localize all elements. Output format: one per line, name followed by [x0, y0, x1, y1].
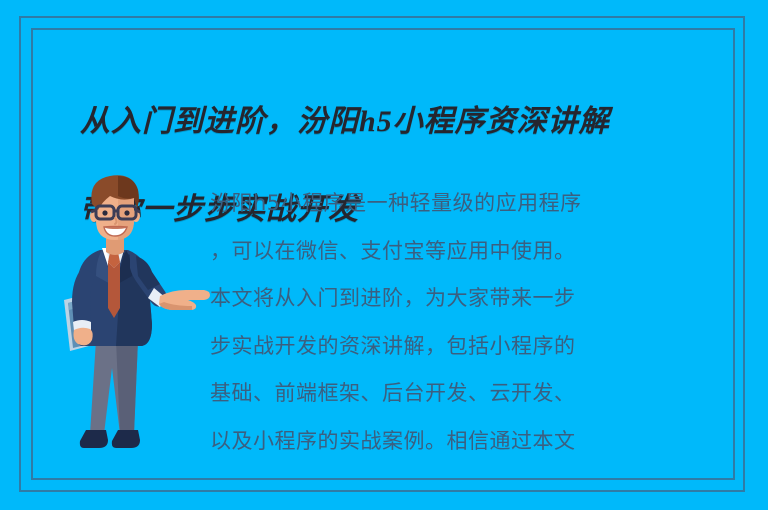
head-group: [90, 175, 140, 240]
body-line-2: ，可以在微信、支付宝等应用中使用。: [210, 228, 738, 276]
body-line-6: 以及小程序的实战案例。相信通过本文: [210, 418, 738, 466]
poster-canvas: 从入门到进阶，汾阳h5小程序资深讲解 带你一步步实战开发 汾阳h5小程序是一种轻…: [0, 0, 768, 510]
headline-line-1: 从入门到进阶，汾阳h5小程序资深讲解: [80, 105, 610, 138]
body-line-1: 汾阳h5小程序是一种轻量级的应用程序: [210, 180, 738, 228]
businessman-illustration: [60, 172, 212, 472]
legs-group: [90, 340, 138, 434]
body-line-3: 本文将从入门到进阶，为大家带来一步: [210, 275, 738, 323]
body-line-5: 基础、前端框架、后台开发、云开发、: [210, 370, 738, 418]
shoes-group: [80, 430, 140, 448]
body-line-4: 步实战开发的资深讲解，包括小程序的: [210, 323, 738, 371]
body-paragraph: 汾阳h5小程序是一种轻量级的应用程序 ，可以在微信、支付宝等应用中使用。 本文将…: [210, 180, 738, 465]
